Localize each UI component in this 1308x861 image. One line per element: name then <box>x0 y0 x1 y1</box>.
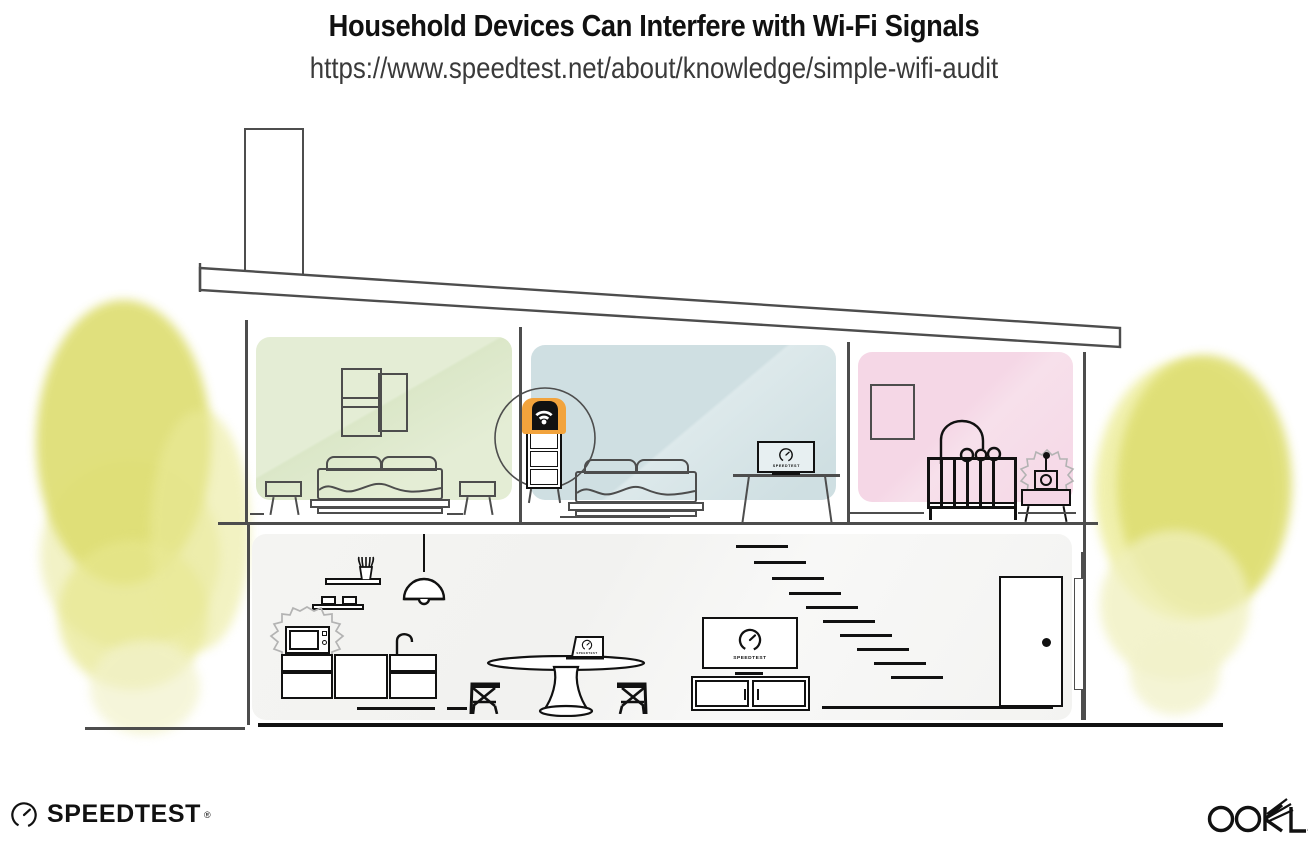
stair-step <box>823 620 875 623</box>
wall-divider-2 <box>847 342 850 524</box>
stair-step <box>736 545 788 548</box>
pendant-lamp <box>402 569 446 609</box>
pendant-cord <box>423 534 425 572</box>
speedtest-logo[interactable]: SPEEDTEST ® <box>10 800 211 829</box>
wifi-router[interactable] <box>527 400 561 432</box>
crib-base <box>930 502 1016 504</box>
counter-unit <box>389 672 437 699</box>
foliage-blob <box>58 540 208 690</box>
wall-left-upper <box>245 320 248 525</box>
floor-mark <box>560 516 670 518</box>
shelf-leg <box>528 489 532 503</box>
nightstand <box>459 481 496 497</box>
nightstand <box>265 481 302 497</box>
monitor-brand-label: SPEEDTEST <box>772 464 799 468</box>
tree-right <box>1095 330 1308 740</box>
wall-right-upper <box>1083 352 1086 524</box>
shelf-compartment <box>530 469 558 485</box>
ookla-mark-icon <box>1205 793 1308 837</box>
console-handle <box>744 689 746 700</box>
stair-step <box>806 606 858 609</box>
console-handle <box>757 689 759 700</box>
stair-step <box>857 648 909 651</box>
speedtest-wordmark: SPEEDTEST <box>47 800 201 829</box>
floor-mark <box>250 513 264 515</box>
stair-step <box>840 634 892 637</box>
counter-unit <box>389 654 437 672</box>
speedtest-trademark: ® <box>204 810 211 820</box>
wall-frame <box>378 373 408 432</box>
shelf-compartment <box>530 433 558 449</box>
floor-mark <box>447 513 463 515</box>
ground-line-left <box>85 727 245 730</box>
bowl <box>342 596 357 605</box>
baby-monitor-speaker <box>1040 474 1052 486</box>
wall-left-lower <box>247 525 250 725</box>
crib-bar <box>992 459 995 507</box>
console-door <box>752 680 806 707</box>
crib-leg <box>929 508 932 520</box>
downspout <box>1074 578 1084 690</box>
stair-step <box>789 592 841 595</box>
door-knob[interactable] <box>1042 638 1051 647</box>
microwave-button <box>322 631 327 636</box>
floor-mark <box>357 707 435 710</box>
baby-monitor-antenna-tip <box>1043 452 1050 459</box>
foliage-blob <box>1095 360 1280 620</box>
monitor-stand <box>772 472 800 475</box>
floor-mark <box>447 707 467 710</box>
foliage-blob <box>1117 355 1292 615</box>
crib-mobile <box>938 418 1018 464</box>
source-url: https://www.speedtest.net/about/knowledg… <box>92 50 1217 88</box>
tv-stand <box>735 672 763 675</box>
ookla-logo[interactable]: OOKLA <box>1205 793 1208 794</box>
microwave-door <box>289 630 319 650</box>
floor-upper <box>218 522 1098 525</box>
floor-mark <box>1018 512 1076 514</box>
stair-step <box>891 676 943 679</box>
wall-frame <box>870 384 915 440</box>
floor-mark <box>850 512 924 514</box>
counter-unit <box>334 654 388 699</box>
utensil-holder <box>353 556 379 580</box>
stair-step <box>874 662 926 665</box>
stair-step <box>772 577 824 580</box>
shelf-compartment <box>530 451 558 467</box>
ground-line-main <box>258 723 1223 727</box>
crib-leg <box>1014 508 1017 520</box>
foliage-blob <box>90 640 200 735</box>
speedtest-gauge-icon <box>737 627 763 653</box>
monitor-screen-content: SPEEDTEST <box>757 441 815 473</box>
stair-step <box>754 561 806 564</box>
foliage-blob <box>36 300 211 585</box>
laptop-screen-content: SPEEDTEST <box>572 637 602 657</box>
counter-unit <box>281 654 333 672</box>
bed-duvet-wave <box>317 478 443 500</box>
header: Household Devices Can Interfere with Wi-… <box>0 0 1308 88</box>
foliage-blob <box>150 410 250 650</box>
crib-bar <box>979 459 982 507</box>
foliage-blob <box>1130 630 1220 715</box>
dining-chair-left <box>466 656 504 714</box>
front-door[interactable] <box>999 576 1063 707</box>
wall-frame <box>341 397 382 437</box>
bowl <box>321 596 336 605</box>
dining-chair-right <box>613 656 651 714</box>
page-title: Household Devices Can Interfere with Wi-… <box>78 8 1229 44</box>
illustration-canvas: Household Devices Can Interfere with Wi-… <box>0 0 1308 861</box>
bed-duvet-wave <box>575 481 697 503</box>
crib-bar <box>966 459 969 507</box>
console-door <box>695 680 749 707</box>
microwave-dial <box>322 640 327 645</box>
tv-screen-content: SPEEDTEST <box>702 617 798 669</box>
crib-bar <box>940 459 943 507</box>
foliage-blob <box>40 460 220 650</box>
tv-brand-label: SPEEDTEST <box>733 655 766 660</box>
chimney <box>244 128 304 278</box>
speedtest-gauge-icon <box>581 639 593 651</box>
tree-left <box>30 290 240 740</box>
speedtest-gauge-icon <box>778 447 794 463</box>
counter-unit <box>281 672 333 699</box>
crib-bar <box>953 459 956 507</box>
speedtest-gauge-icon <box>10 801 38 829</box>
laptop-brand-label: SPEEDTEST <box>576 651 597 655</box>
nightstand-nursery <box>1021 489 1071 506</box>
foliage-blob <box>1100 530 1250 680</box>
kitchen-faucet <box>394 631 416 655</box>
bed-frame <box>317 507 443 514</box>
